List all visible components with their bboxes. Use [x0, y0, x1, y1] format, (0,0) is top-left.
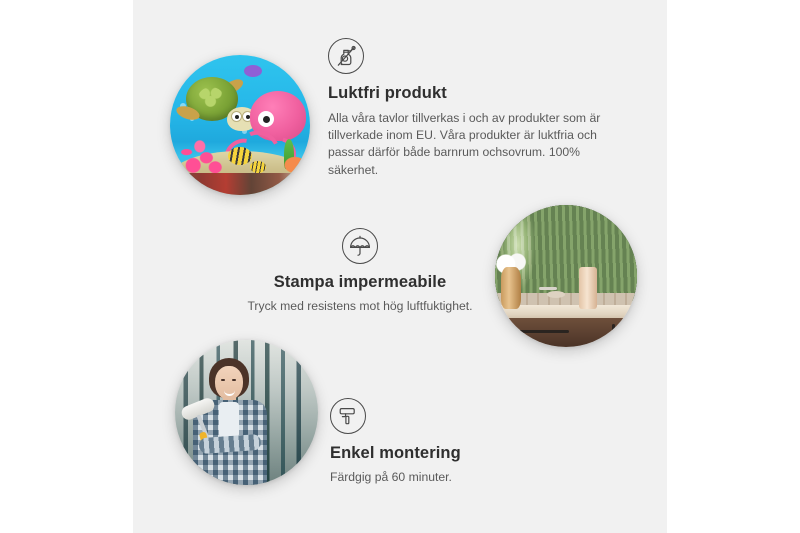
feature-panel: Luktfri produkt Alla våra tavlor tillver…	[133, 0, 667, 533]
striped-fish	[228, 147, 252, 165]
woman-face	[215, 366, 243, 400]
umbrella-icon	[342, 228, 378, 264]
woman-eye	[221, 379, 225, 381]
purple-fish	[244, 65, 262, 77]
screenshot-stage: Luktfri produkt Alla våra tavlor tillver…	[0, 0, 800, 533]
woman-smile	[224, 389, 235, 396]
gold-vase	[501, 267, 521, 309]
painter-scene	[175, 340, 318, 485]
product-photo-sea	[170, 55, 310, 195]
feature-description: Alla våra tavlor tillverkas i och av pro…	[328, 110, 618, 179]
photo-bottom-strip	[170, 173, 310, 195]
striped-fish	[250, 161, 266, 173]
feature-description: Färdgig på 60 minuter.	[330, 469, 580, 486]
feature-waterproof: Stampa impermeabile Tryck med resistens …	[215, 228, 505, 315]
inner-shirt	[219, 402, 239, 438]
feature-title: Stampa impermeabile	[215, 272, 505, 293]
faucet	[539, 287, 557, 290]
woman-eye	[232, 379, 236, 381]
coral	[180, 135, 224, 173]
feature-title: Luktfri produkt	[328, 83, 618, 104]
feature-odourless: Luktfri produkt Alla våra tavlor tillver…	[328, 38, 618, 179]
feature-easymount: Enkel montering Färdgig på 60 minuter.	[330, 398, 580, 486]
starfish	[282, 155, 308, 175]
turtle-eye	[232, 112, 241, 121]
product-photo-bathroom	[495, 205, 637, 347]
sea-scene	[170, 55, 310, 195]
feature-description: Tryck med resistens mot hög luftfuktighe…	[215, 298, 505, 315]
no-odour-spray-bottle-icon	[328, 38, 364, 74]
paint-roller-icon	[330, 398, 366, 434]
wooden-vanity	[501, 318, 637, 347]
feature-title: Enkel montering	[330, 443, 580, 464]
soap-dish	[547, 291, 565, 298]
bathroom-scene	[495, 205, 637, 347]
product-photo-painter	[175, 340, 318, 485]
dispenser-bottle	[579, 267, 597, 309]
octopus-eye	[258, 111, 274, 127]
